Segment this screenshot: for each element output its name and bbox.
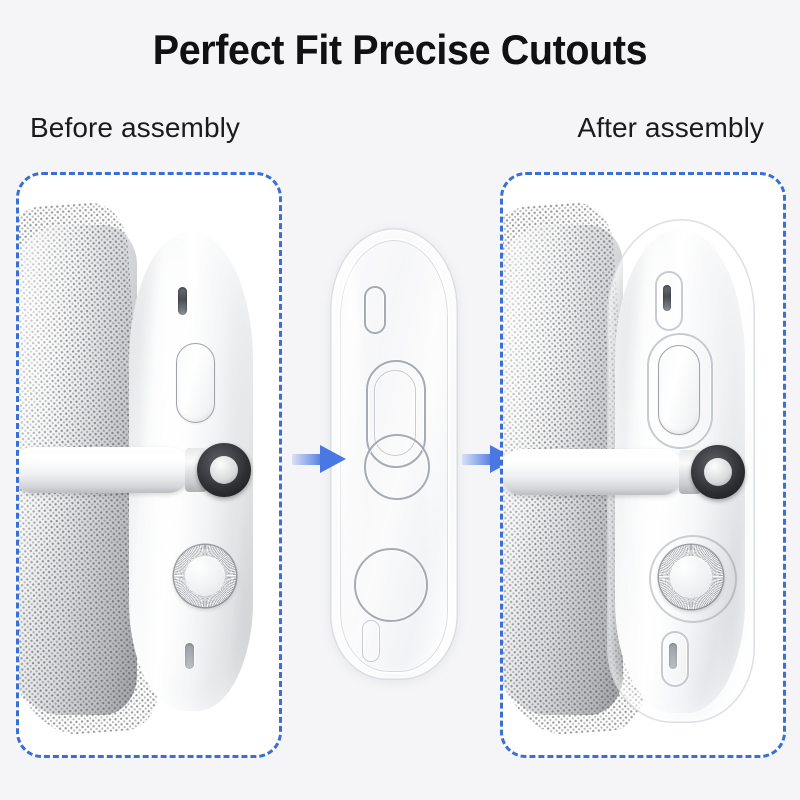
- caption-before-assembly: Before assembly: [30, 112, 240, 144]
- cutout-microphone-slot-top: [364, 286, 386, 334]
- product-feature-graphic: Perfect Fit Precise Cutouts Before assem…: [0, 0, 800, 800]
- page-title: Perfect Fit Precise Cutouts: [24, 28, 776, 72]
- microphone-slot-bottom: [185, 643, 194, 669]
- caption-after-assembly: After assembly: [577, 112, 764, 144]
- panel-after-clip: [503, 175, 783, 755]
- digital-crown[interactable]: [174, 545, 236, 607]
- digital-crown-assembled[interactable]: [659, 545, 723, 609]
- cutout-digital-crown: [354, 548, 428, 622]
- panel-after-assembly: [500, 172, 786, 758]
- noise-control-button[interactable]: [176, 343, 215, 423]
- right-arrow-icon-1: [292, 445, 346, 473]
- cutout-headband-arm: [364, 434, 430, 500]
- panel-before-clip: [19, 175, 279, 755]
- headband-arm: [19, 447, 191, 493]
- noise-control-button-assembled[interactable]: [658, 345, 700, 435]
- microphone-slot-top: [178, 287, 187, 315]
- arrow-head: [320, 445, 346, 473]
- hinge-pivot-assembled: [691, 445, 745, 499]
- headband-arm-assembled: [503, 449, 685, 495]
- hinge-pivot: [197, 443, 251, 497]
- microphone-slot-top-assembled: [663, 285, 671, 311]
- panel-before-assembly: [16, 172, 282, 758]
- cutout-microphone-slot-bottom: [362, 620, 380, 662]
- microphone-slot-bottom-assembled: [669, 643, 677, 669]
